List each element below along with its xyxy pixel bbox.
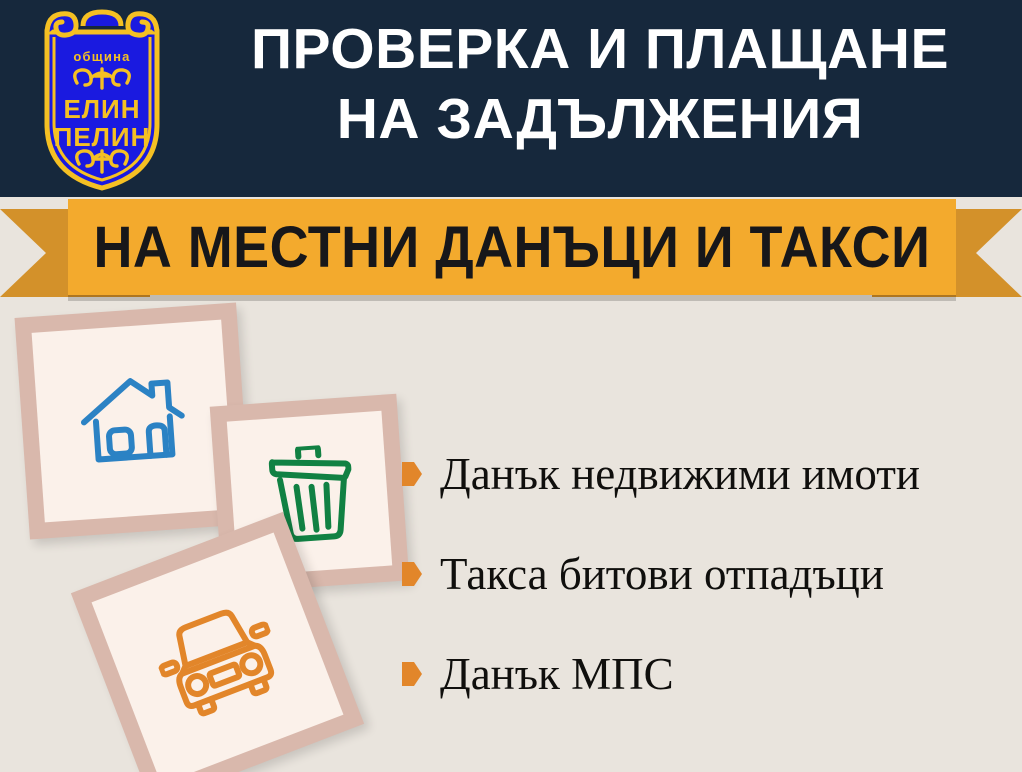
ribbon-label: НА МЕСТНИ ДАНЪЦИ И ТАКСИ <box>94 214 931 281</box>
stamp-paper <box>32 320 235 523</box>
logo-line1: община <box>73 49 130 64</box>
logo-line2: ЕЛИН <box>63 94 140 124</box>
page-title: ПРОВЕРКА И ПЛАЩАНЕ НА ЗАДЪЛЖЕНИЯ <box>190 14 1010 154</box>
logo-line3: ПЕЛИН <box>54 122 151 152</box>
municipality-logo: община ЕЛИН ПЕЛИН <box>21 6 183 192</box>
ribbon-face: НА МЕСТНИ ДАНЪЦИ И ТАКСИ <box>68 199 956 295</box>
house-icon <box>75 367 192 474</box>
page-title-line1: ПРОВЕРКА И ПЛАЩАНЕ <box>251 17 949 81</box>
list-item[interactable]: Данък МПС <box>402 624 1012 724</box>
list-item-label: Данък недвижими имоти <box>440 452 920 497</box>
list-item-label: Такса битови отпадъци <box>440 552 884 597</box>
list-item[interactable]: Данък недвижими имоти <box>402 424 1012 524</box>
subtitle-ribbon: НА МЕСТНИ ДАНЪЦИ И ТАКСИ <box>0 197 1022 309</box>
list-item[interactable]: Такса битови отпадъци <box>402 524 1012 624</box>
arrow-bullet-icon <box>402 662 422 686</box>
tax-type-list: Данък недвижими имоти Такса битови отпад… <box>402 424 1012 724</box>
list-item-label: Данък МПС <box>440 652 674 697</box>
arrow-bullet-icon <box>402 462 422 486</box>
car-front-icon <box>145 592 290 726</box>
header-banner: община ЕЛИН ПЕЛИН <box>0 0 1022 197</box>
page-title-line2: НА ЗАДЪЛЖЕНИЯ <box>190 84 1010 154</box>
arrow-bullet-icon <box>402 562 422 586</box>
poster-canvas: община ЕЛИН ПЕЛИН <box>0 0 1022 772</box>
